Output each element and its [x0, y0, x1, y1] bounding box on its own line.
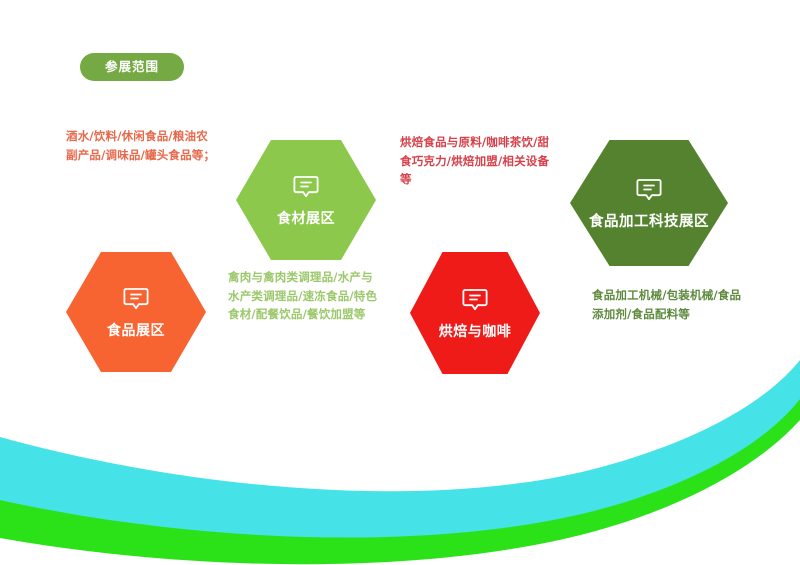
zone-description-bakery-coffee: 烘焙食品与原料/咖啡茶饮/甜食巧克力/烘焙加盟/相关设备等 — [400, 133, 560, 189]
zone-description-processing-tech: 食品加工机械/包装机械/食品添加剂/食品配料等 — [592, 286, 752, 323]
speech-bubble-icon — [462, 287, 488, 313]
zone-label: 食品展区 — [107, 324, 165, 338]
speech-bubble-icon — [293, 174, 319, 200]
zone-description-food: 酒水/饮料/休闲食品/粮油农副产品/调味品/罐头食品等； — [66, 127, 218, 164]
zone-hexagon-processing-tech[interactable]: 食品加工科技展区 — [570, 140, 728, 266]
speech-bubble-icon — [123, 286, 149, 312]
speech-bubble-icon — [636, 177, 662, 203]
zone-hexagon-bakery-coffee[interactable]: 烘焙与咖啡 — [410, 252, 540, 374]
zone-hexagon-food[interactable]: 食品展区 — [66, 252, 206, 372]
zone-label: 食材展区 — [277, 212, 335, 226]
zone-hexagon-ingredients[interactable]: 食材展区 — [236, 140, 376, 260]
swoosh-green-band — [0, 399, 800, 564]
zone-label: 烘焙与咖啡 — [439, 325, 512, 339]
section-title-label: 参展范围 — [105, 61, 159, 74]
section-title-badge: 参展范围 — [80, 53, 184, 81]
zone-label: 食品加工科技展区 — [589, 215, 709, 230]
zone-description-ingredients: 禽肉与禽肉类调理品/水产与水产类调理品/速冻食品/特色食材/配餐饮品/餐饮加盟等 — [228, 268, 380, 324]
exhibition-scope-infographic: 参展范围 酒水/饮料/休闲食品/粮油农副产品/调味品/罐头食品等； 禽肉与禽肉类… — [0, 0, 800, 565]
swoosh-cyan-band — [0, 360, 800, 544]
